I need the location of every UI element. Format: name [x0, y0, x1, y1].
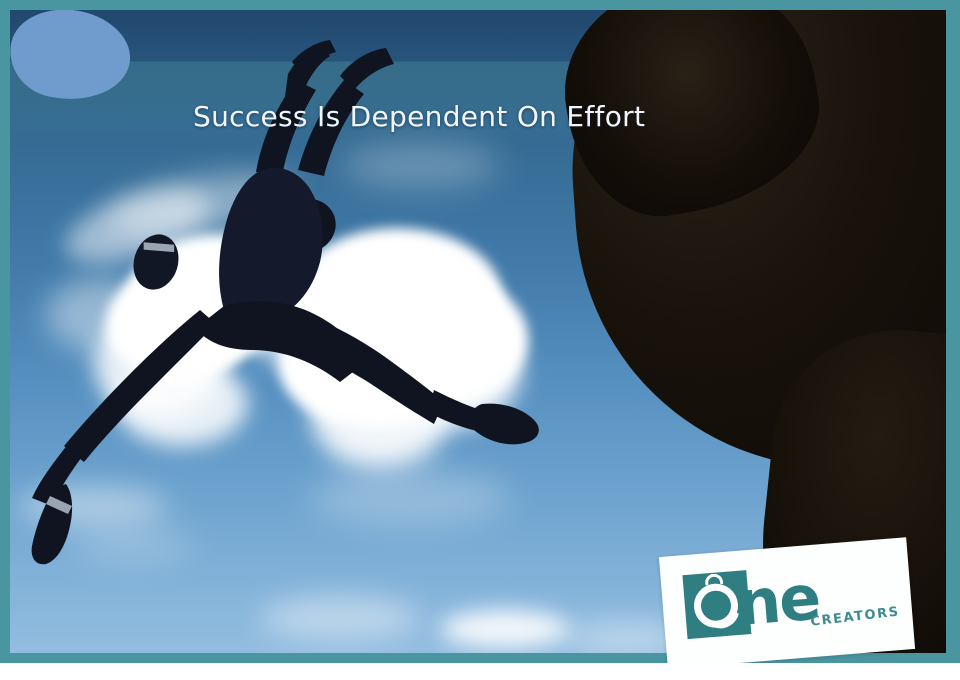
- logo-inner: ne CREATORS: [682, 554, 898, 651]
- page-title: Success Is Dependent On Effort: [193, 100, 645, 133]
- logo-wordmark: ne: [734, 567, 821, 635]
- slide-canvas: Success Is Dependent On Effort ne CREATO…: [0, 0, 960, 680]
- bottom-white-strip: [0, 663, 960, 680]
- logo-o-cap-icon: [704, 573, 723, 585]
- logo-tagline: CREATORS: [810, 604, 901, 629]
- logo-card[interactable]: ne CREATORS: [659, 537, 915, 669]
